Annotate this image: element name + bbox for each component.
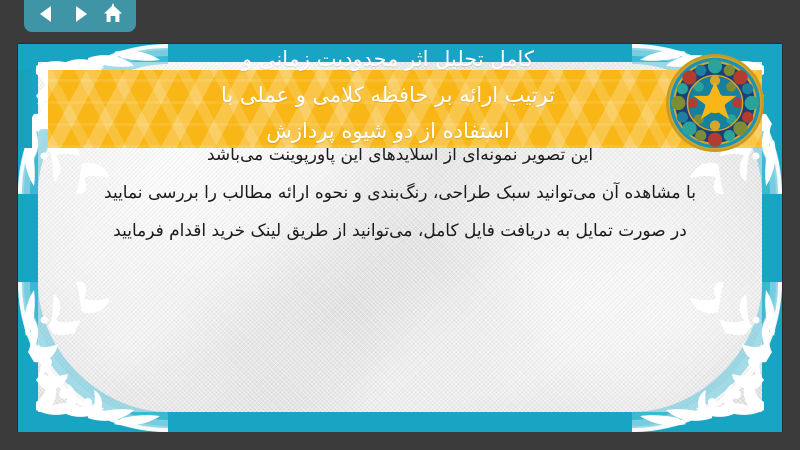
slide-body-text: این تصویر نمونه‌ای از اسلایدهای این پاور… [58, 136, 742, 250]
caret-right-icon [70, 4, 90, 24]
next-slide-button[interactable] [67, 1, 93, 27]
banner-left-tab [18, 70, 32, 148]
body-line-2: با مشاهده آن می‌توانید سبک طراحی، رنگ‌بن… [58, 174, 742, 212]
body-line-3: در صورت تمایل به دریافت فایل کامل، می‌تو… [58, 212, 742, 250]
slide-viewer: کامل تحلیل اثر محدودیت زمانی و ترتیب ارا… [0, 0, 800, 450]
slide-navigation-bar [24, 0, 136, 32]
title-line-1: کامل تحلیل اثر محدودیت زمانی و [78, 44, 698, 77]
home-icon [102, 3, 124, 25]
prev-slide-button[interactable] [34, 1, 60, 27]
slide-frame: کامل تحلیل اثر محدودیت زمانی و ترتیب ارا… [18, 44, 782, 432]
viewer-bottom-strip [0, 432, 800, 450]
home-button[interactable] [100, 1, 126, 27]
caret-left-icon [37, 4, 57, 24]
title-line-3: استفاده از دو شیوه پردازش [78, 113, 698, 149]
slide-title: کامل تحلیل اثر محدودیت زمانی و ترتیب ارا… [78, 44, 698, 149]
persian-rosette-medallion-icon [664, 52, 766, 154]
title-line-2: ترتیب ارائه بر حافظه کلامی و عملی با [78, 77, 698, 113]
